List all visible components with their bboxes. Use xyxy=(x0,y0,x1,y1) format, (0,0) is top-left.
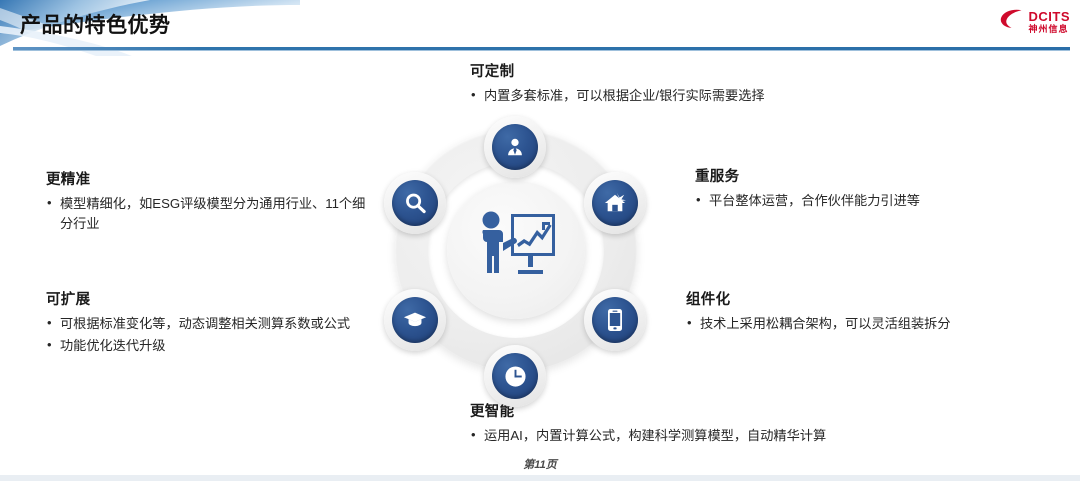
diagram-node-mobile[interactable] xyxy=(584,289,646,351)
feature-title: 可定制 xyxy=(470,60,930,81)
feature-bullet: 技术上采用松耦合架构，可以灵活组装拆分 xyxy=(686,314,1026,334)
feature-bullet: 平台整体运营，合作伙伴能力引进等 xyxy=(695,191,1025,211)
feature-title: 更精准 xyxy=(46,168,378,189)
graduation-cap-icon xyxy=(392,297,438,343)
page-number-label: 第11页 xyxy=(0,456,1080,472)
feature-block-intelligent: 更智能 运用AI，内置计算公式，构建科学测算模型，自动精华计算 xyxy=(470,400,940,448)
person-icon xyxy=(492,124,538,170)
home-icon xyxy=(592,180,638,226)
feature-bullet: 内置多套标准，可以根据企业/银行实际需要选择 xyxy=(470,86,930,106)
feature-bullet-list: 技术上采用松耦合架构，可以灵活组装拆分 xyxy=(686,314,1026,334)
diagram-node-person[interactable] xyxy=(484,116,546,178)
diagram-node-home[interactable] xyxy=(584,172,646,234)
feature-block-service: 重服务 平台整体运营，合作伙伴能力引进等 xyxy=(695,165,1025,213)
brand-logo: DCITS 神州信息 xyxy=(999,8,1071,35)
feature-title: 组件化 xyxy=(686,288,1026,309)
presenter-chart-icon xyxy=(473,208,559,293)
feature-bullet-list: 模型精细化，如ESG评级模型分为通用行业、11个细分行业 xyxy=(46,194,378,234)
dcits-swoosh-icon xyxy=(999,8,1025,35)
feature-bullet: 模型精细化，如ESG评级模型分为通用行业、11个细分行业 xyxy=(46,194,378,234)
feature-bullet-list: 运用AI，内置计算公式，构建科学测算模型，自动精华计算 xyxy=(470,426,940,446)
magnifier-icon xyxy=(392,180,438,226)
feature-bullet: 可根据标准变化等，动态调整相关测算系数或公式 xyxy=(46,314,378,334)
diagram-node-clock[interactable] xyxy=(484,345,546,407)
feature-title: 更智能 xyxy=(470,400,940,421)
feature-block-accurate: 更精准 模型精细化，如ESG评级模型分为通用行业、11个细分行业 xyxy=(46,168,378,236)
page-title: 产品的特色优势 xyxy=(20,9,171,39)
brand-subtitle: 神州信息 xyxy=(1029,25,1071,34)
feature-bullet: 功能优化迭代升级 xyxy=(46,336,378,356)
slide-header: 产品的特色优势 DCITS 神州信息 xyxy=(0,0,1080,56)
feature-bullet-list: 可根据标准变化等，动态调整相关测算系数或公式 功能优化迭代升级 xyxy=(46,314,378,356)
diagram-center-disc xyxy=(447,181,585,319)
feature-bullet: 运用AI，内置计算公式，构建科学测算模型，自动精华计算 xyxy=(470,426,940,446)
feature-bullet-list: 平台整体运营，合作伙伴能力引进等 xyxy=(695,191,1025,211)
clock-icon xyxy=(492,353,538,399)
feature-title: 可扩展 xyxy=(46,288,378,309)
brand-name: DCITS xyxy=(1029,10,1071,23)
central-diagram xyxy=(371,105,661,395)
feature-block-customizable: 可定制 内置多套标准，可以根据企业/银行实际需要选择 xyxy=(470,60,930,108)
feature-title: 重服务 xyxy=(695,165,1025,186)
slide-bottom-edge xyxy=(0,475,1080,481)
diagram-node-graduation-cap[interactable] xyxy=(384,289,446,351)
feature-bullet-list: 内置多套标准，可以根据企业/银行实际需要选择 xyxy=(470,86,930,106)
feature-block-modular: 组件化 技术上采用松耦合架构，可以灵活组装拆分 xyxy=(686,288,1026,336)
diagram-node-search[interactable] xyxy=(384,172,446,234)
header-divider-shadow xyxy=(13,50,1070,51)
mobile-phone-icon xyxy=(592,297,638,343)
feature-block-extensible: 可扩展 可根据标准变化等，动态调整相关测算系数或公式 功能优化迭代升级 xyxy=(46,288,378,358)
